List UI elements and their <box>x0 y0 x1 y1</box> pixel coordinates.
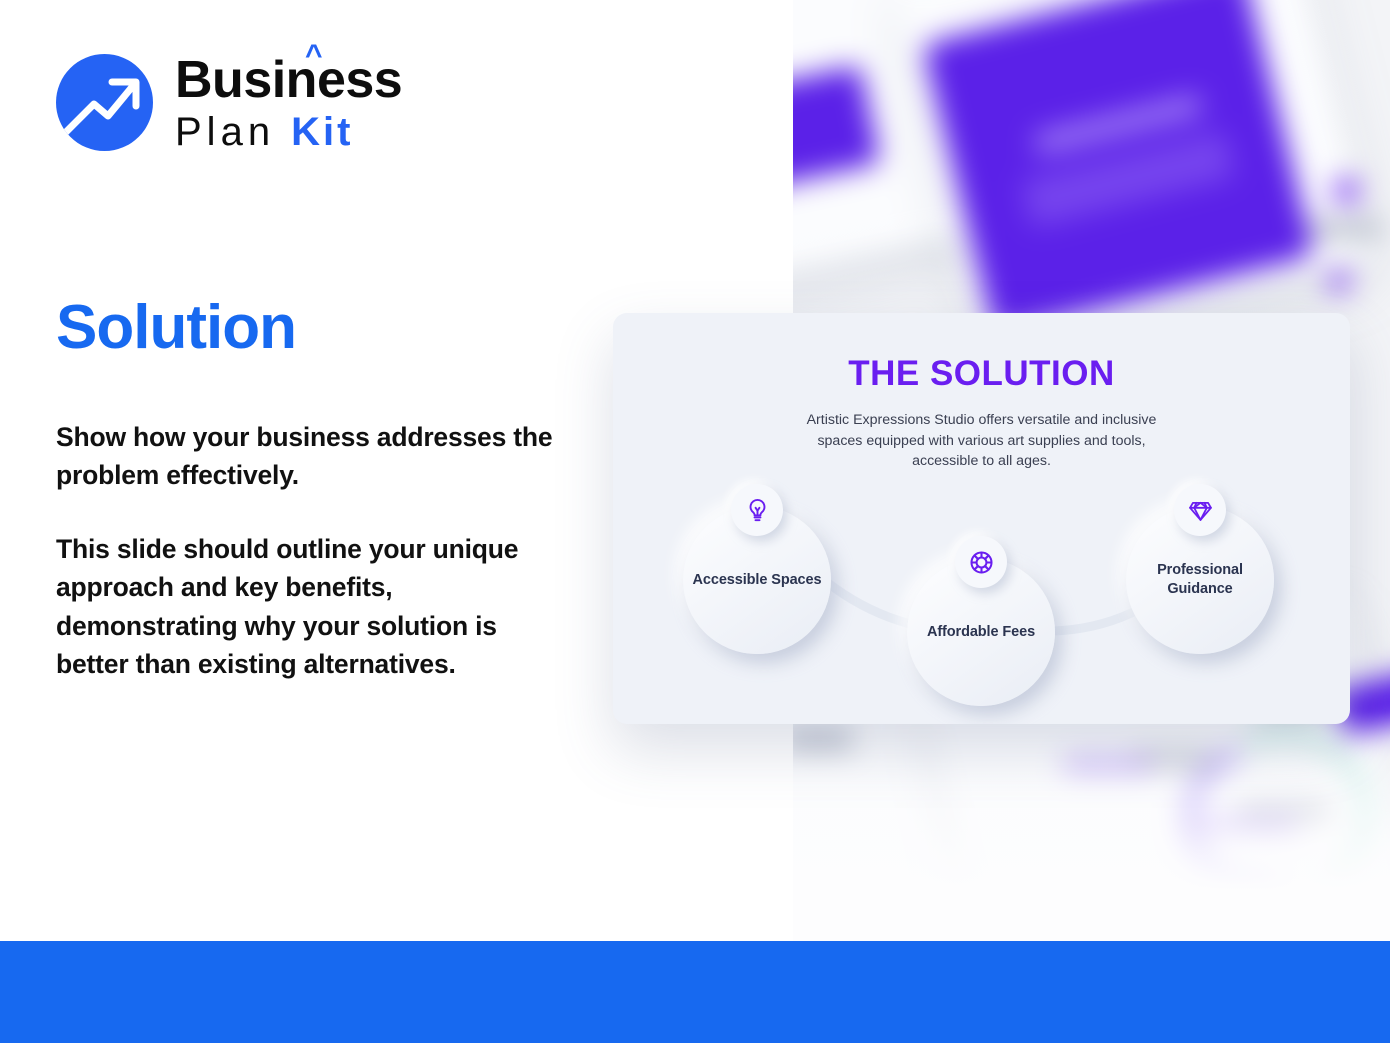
brand-plan-text: Plan <box>175 110 291 154</box>
bg-purple-dot <box>1328 270 1350 292</box>
bg-gray-bar <box>1311 220 1381 238</box>
slide-body-copy: Show how your business addresses the pro… <box>56 418 576 683</box>
footer-accent-bar <box>0 941 1390 1043</box>
brand-name-text: Business <box>175 51 402 109</box>
body-paragraph-1: Show how your business addresses the pro… <box>56 418 576 494</box>
feature-label: Accessible Spaces <box>693 571 822 590</box>
background-fade <box>793 711 1390 941</box>
diamond-icon <box>1174 484 1226 536</box>
solution-preview-card: THE SOLUTION Artistic Expressions Studio… <box>613 313 1350 724</box>
feature-label: Affordable Fees <box>927 623 1035 642</box>
feature-label: Professional Guidance <box>1126 561 1274 598</box>
presentation-slide: Business ^ Plan Kit Solution Show how yo… <box>0 0 1390 1043</box>
bg-purple-dot <box>1333 178 1359 204</box>
brand-name-line2: Plan Kit <box>175 112 402 152</box>
circumflex-accent: ^ <box>305 41 322 71</box>
brand-kit-text: Kit <box>291 110 353 154</box>
donut-segments-icon <box>955 536 1007 588</box>
brand-wordmark: Business ^ Plan Kit <box>175 52 402 152</box>
growth-arrow-icon <box>56 54 153 151</box>
feature-item-professional-guidance[interactable]: Professional Guidance <box>1126 506 1274 654</box>
brand-lockup: Business ^ Plan Kit <box>56 52 402 152</box>
lightbulb-icon <box>731 484 783 536</box>
brand-name-line1: Business ^ <box>175 54 402 106</box>
feature-item-affordable-fees[interactable]: Affordable Fees <box>907 558 1055 706</box>
feature-item-accessible-spaces[interactable]: Accessible Spaces <box>683 506 831 654</box>
page-title: Solution <box>56 292 296 363</box>
body-paragraph-2: This slide should outline your unique ap… <box>56 530 576 683</box>
